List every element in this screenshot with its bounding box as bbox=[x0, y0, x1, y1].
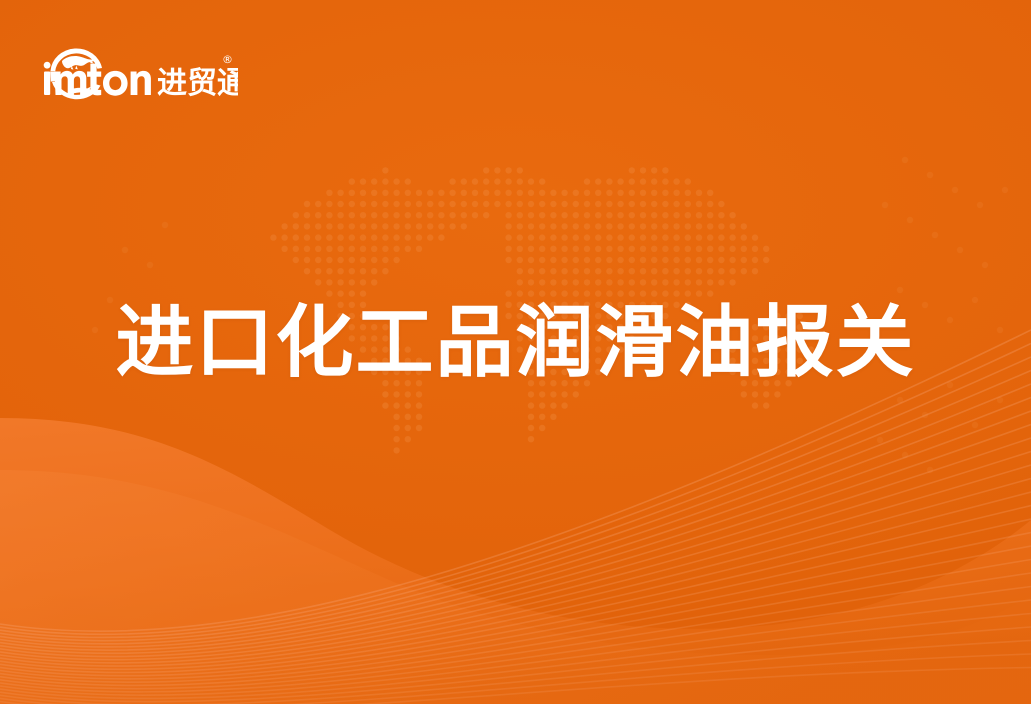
logo-chinese-text: 进贸通 bbox=[157, 66, 238, 101]
registered-trademark-icon: ® bbox=[222, 53, 233, 66]
brand-logo[interactable]: 进贸通 ® bbox=[38, 27, 238, 107]
page-title: 进口化工品润滑油报关 bbox=[115, 302, 915, 385]
hero-title-container: 进口化工品润滑油报关 bbox=[0, 302, 1031, 385]
logo-wordmark-chinese: 进贸通 ® bbox=[157, 53, 238, 101]
banner-root: 进贸通 ® 进口化工品润滑油报关 bbox=[0, 0, 1031, 704]
